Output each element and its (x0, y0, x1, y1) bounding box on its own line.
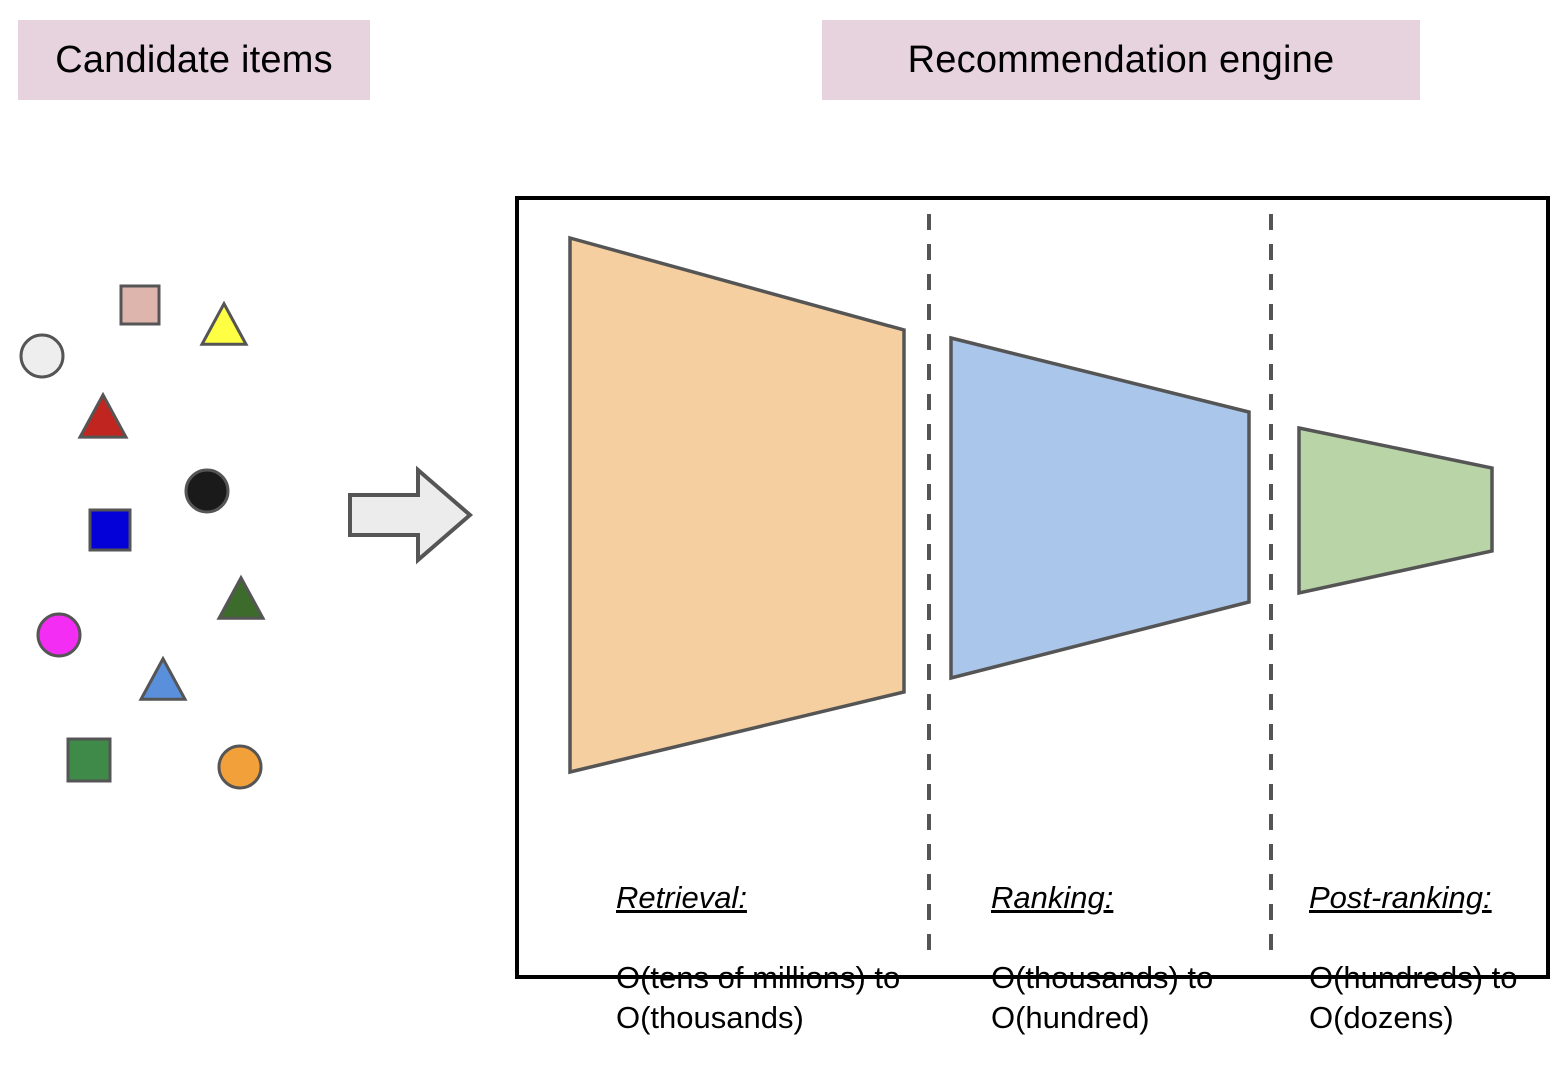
candidate-item-triangle (202, 304, 246, 344)
candidate-item-square (121, 286, 159, 324)
right-arrow-icon (350, 470, 470, 560)
candidate-items-header: Candidate items (18, 20, 370, 100)
flow-right-arrow-icon (340, 460, 480, 570)
diagram-canvas: Candidate items Recommendation engine Re… (0, 0, 1568, 1000)
stage-title-ranking: Ranking: (991, 878, 1281, 918)
stage-body-postranking: O(hundreds) to O(dozens) (1309, 958, 1568, 1038)
candidate-item-triangle (80, 395, 126, 437)
postranking-funnel-shape (1299, 428, 1492, 593)
retrieval-funnel-shape (570, 238, 904, 772)
recommendation-engine-box: Retrieval: O(tens of millions) to O(thou… (515, 196, 1550, 979)
candidate-item-circle (219, 746, 261, 788)
candidate-item-square (68, 739, 110, 781)
candidate-item-circle (186, 470, 228, 512)
candidate-item-circle (21, 335, 63, 377)
stage-body-ranking: O(thousands) to O(hundred) (991, 958, 1281, 1038)
stage-body-retrieval: O(tens of millions) to O(thousands) (616, 958, 926, 1038)
candidate-item-square (90, 510, 130, 550)
candidate-item-circle (38, 614, 80, 656)
candidate-item-triangle (219, 578, 263, 618)
ranking-funnel-shape (951, 338, 1249, 678)
stage-caption-postranking: Post-ranking: O(hundreds) to O(dozens) (1309, 838, 1568, 1078)
stage-caption-ranking: Ranking: O(thousands) to O(hundred) (991, 838, 1281, 1078)
stage-caption-retrieval: Retrieval: O(tens of millions) to O(thou… (616, 838, 926, 1078)
stage-title-retrieval: Retrieval: (616, 878, 926, 918)
candidate-item-triangle (141, 659, 185, 699)
stage-title-postranking: Post-ranking: (1309, 878, 1568, 918)
recommendation-engine-header: Recommendation engine (822, 20, 1420, 100)
